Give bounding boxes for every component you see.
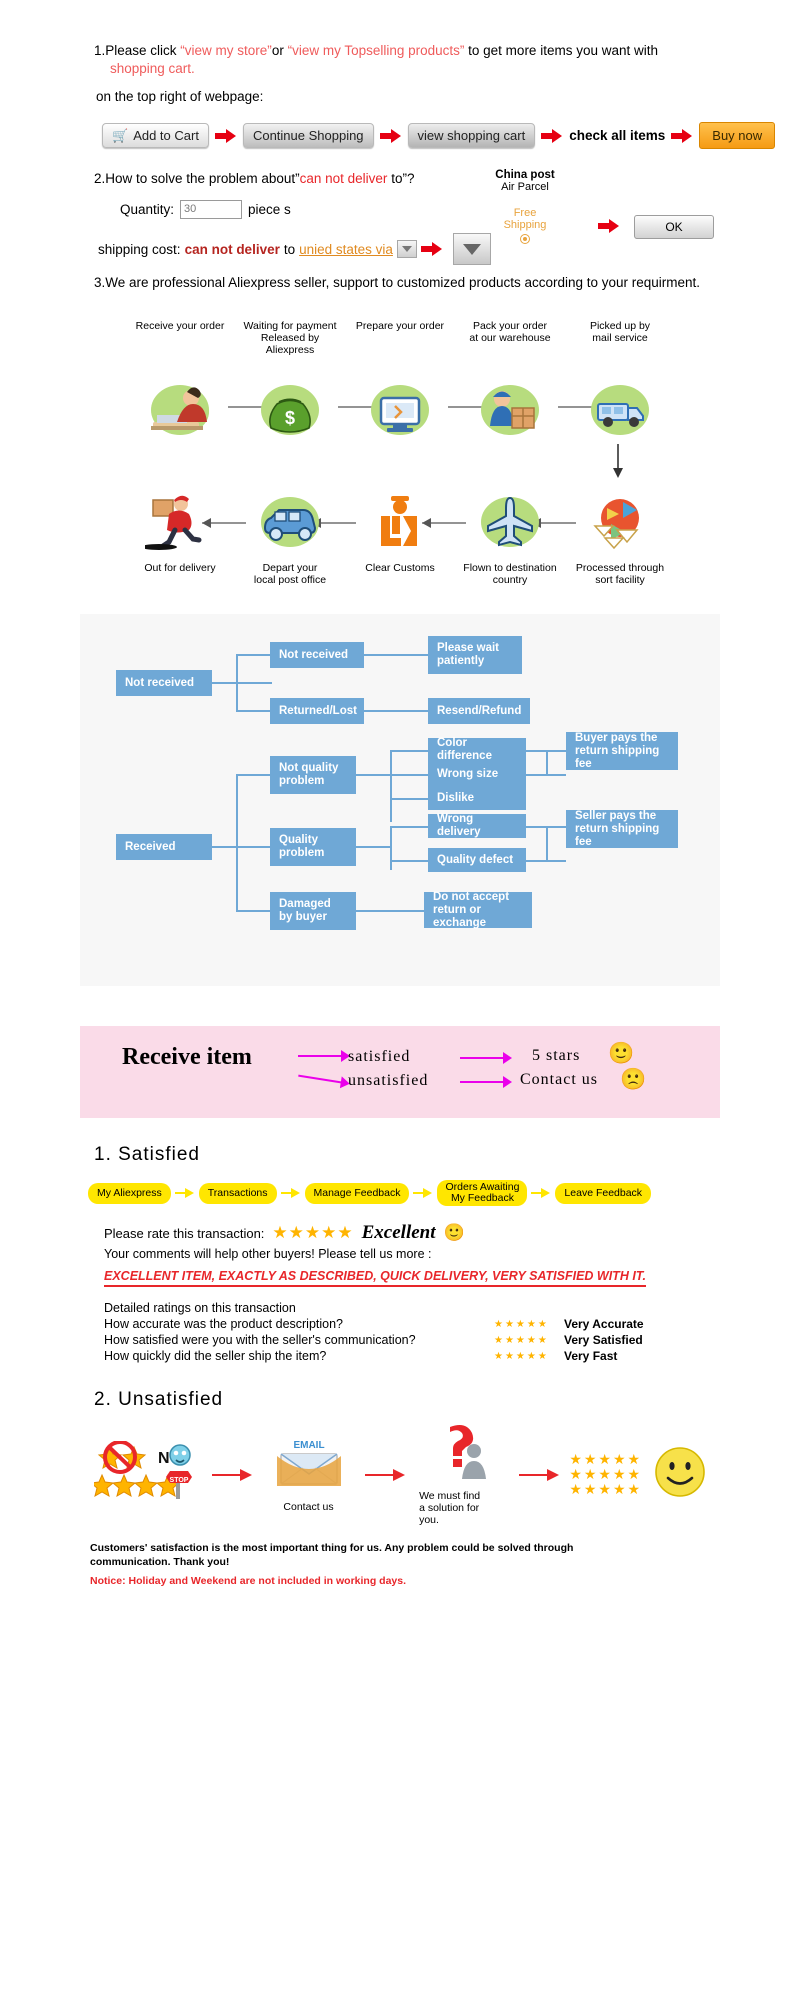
mail-sorting-icon: [570, 482, 670, 562]
receive-item-title: Receive item: [122, 1044, 252, 1071]
add-to-cart-button[interactable]: 🛒 Add to Cart: [102, 123, 209, 148]
cart-icon: 🛒: [112, 129, 128, 142]
svg-text:EMAIL: EMAIL: [293, 1440, 324, 1451]
section2-title-b: to”?: [387, 171, 414, 186]
tree-node-color-difference[interactable]: Color difference: [428, 738, 526, 762]
buy-now-button[interactable]: Buy now: [699, 122, 775, 149]
no-rating-icon: N STOP: [94, 1441, 212, 1503]
yellow-arrow-icon: [175, 1188, 195, 1198]
add-to-cart-label: Add to Cart: [133, 128, 199, 143]
flow-caption: Clear Customs: [350, 562, 450, 574]
red-arrow-icon: [541, 129, 563, 143]
flow-step: Prepare your order: [350, 320, 450, 332]
customs-officer-icon: [350, 482, 450, 562]
rating-value: Very Satisfied: [564, 1333, 643, 1347]
quantity-row: Quantity: 30 piece s: [80, 200, 720, 219]
satisfied-heading: 1. Satisfied: [94, 1144, 720, 1166]
email-envelope-icon: EMAIL: [263, 1436, 355, 1492]
section1-text-before: Please click: [105, 43, 180, 58]
unsatisfied-section: 2. Unsatisfied N: [80, 1389, 720, 1587]
returns-decision-tree: Not received Not received Returned/Lost …: [80, 614, 720, 986]
shipping-flow-bottom-icons: [80, 476, 720, 562]
smiley-cell: [653, 1446, 706, 1503]
satisfied-section: 1. Satisfied My Aliexpress Transactions …: [80, 1144, 720, 1363]
feedback-chain: My Aliexpress Transactions Manage Feedba…: [88, 1180, 720, 1206]
flow-caption: Processed through sort facility: [570, 562, 670, 586]
comments-prompt: Your comments will help other buyers! Pl…: [104, 1247, 720, 1261]
excellent-label: Excellent: [362, 1222, 436, 1244]
contact-us-label: Contact us: [520, 1071, 598, 1089]
star-row: ★★★★★: [558, 1482, 653, 1497]
tree-node-quality-defect[interactable]: Quality defect: [428, 848, 526, 872]
five-stars-label: 5 stars: [532, 1047, 580, 1065]
tree-node-do-not-accept[interactable]: Do not accept return or exchange: [424, 892, 532, 928]
tree-node-seller-pays[interactable]: Seller pays the return shipping fee: [566, 810, 678, 848]
carrier-name: China post: [470, 169, 580, 181]
unsatisfied-label: unsatisfied: [348, 1072, 428, 1090]
chevron-down-icon: [463, 244, 481, 255]
notice-text: Notice: Holiday and Weekend are not incl…: [90, 1575, 720, 1587]
solution-cell: We must find a solution for you.: [405, 1423, 519, 1526]
section1-mid: or: [272, 43, 288, 58]
shipping-cost-row: shipping cost:can not deliver to unied s…: [80, 233, 720, 265]
ok-button[interactable]: OK: [634, 215, 714, 239]
tree-node-please-wait[interactable]: Please wait patiently: [428, 636, 522, 674]
footer-line2: communication. Thank you!: [90, 1556, 720, 1569]
satisfied-label: satisfied: [348, 1048, 410, 1066]
yellow-arrow-icon: [281, 1188, 301, 1198]
flow-caption: Receive your order: [130, 320, 230, 332]
flow-caption: Depart your local post office: [240, 562, 340, 586]
country-select-link[interactable]: unied states via: [299, 242, 393, 257]
transactions-button[interactable]: Transactions: [199, 1183, 277, 1204]
view-shopping-cart-button[interactable]: view shopping cart: [408, 123, 536, 148]
red-arrow-icon: [421, 242, 443, 256]
worker-box-icon: [460, 370, 560, 450]
section1-line3: on the top right of webpage:: [80, 88, 720, 106]
section-2: 2.How to solve the problem about”can not…: [80, 171, 720, 271]
section1-number: 1.: [94, 43, 105, 58]
section-3: 3.We are professional Aliexpress seller,…: [80, 275, 720, 290]
free-shipping-radio[interactable]: [520, 234, 530, 244]
red-arrow-icon: [519, 1468, 559, 1482]
monitor-box-icon: [350, 370, 450, 450]
receive-item-band: Receive item satisfied unsatisfied 5 sta…: [80, 1026, 720, 1118]
contact-us-cell: EMAIL Contact us: [252, 1436, 366, 1513]
button-flow-row: 🛒 Add to Cart Continue Shopping view sho…: [80, 122, 720, 149]
tree-node-wrong-delivery[interactable]: Wrong delivery: [428, 814, 526, 838]
happy-face-icon: 🙂: [444, 1223, 465, 1243]
rating-question: How quickly did the seller ship the item…: [104, 1349, 494, 1363]
blue-van-icon: [240, 482, 340, 562]
rating-question: How accurate was the product description…: [104, 1317, 494, 1331]
rate-prompt: Please rate this transaction:: [104, 1226, 264, 1241]
flow-caption: Pack your order at our warehouse: [460, 320, 560, 344]
quantity-label: Quantity:: [120, 202, 174, 217]
yellow-arrow-icon: [413, 1188, 433, 1198]
red-arrow-icon: [212, 1468, 252, 1482]
view-shopping-cart-label: view shopping cart: [418, 128, 526, 143]
flow-step: Pack your order at our warehouse: [460, 320, 560, 344]
continue-shopping-button[interactable]: Continue Shopping: [243, 123, 374, 148]
unsatisfied-heading: 2. Unsatisfied: [94, 1389, 720, 1411]
rating-stars: ★★★★★: [494, 1335, 564, 1346]
orders-awaiting-feedback-button[interactable]: Orders Awaiting My Feedback: [437, 1180, 527, 1206]
magenta-arrow-icon: [460, 1052, 516, 1064]
country-dropdown[interactable]: [397, 240, 417, 258]
chevron-down-icon: [402, 246, 412, 252]
rating-stars[interactable]: ★★★★★: [272, 1223, 353, 1243]
flow-caption: Prepare your order: [350, 320, 450, 332]
star-row: ★★★★★: [558, 1452, 653, 1467]
tree-node-quality-problem[interactable]: Quality problem: [270, 828, 356, 866]
rating-value: Very Accurate: [564, 1317, 644, 1331]
leave-feedback-button[interactable]: Leave Feedback: [555, 1183, 651, 1204]
rating-stars: ★★★★★: [494, 1319, 564, 1330]
flow-step: Picked up by mail service: [570, 320, 670, 344]
section2-title: 2.How to solve the problem about”can not…: [80, 171, 720, 186]
tree-node-wrong-size[interactable]: Wrong size: [428, 762, 526, 786]
magenta-arrow-icon: [298, 1050, 354, 1062]
question-person-icon: [420, 1423, 504, 1481]
tree-node-not-quality-problem[interactable]: Not quality problem: [270, 756, 356, 794]
shipping-flow-diagram: Receive your order Waiting for payment R…: [80, 320, 720, 586]
carrier-block: China post Air Parcel Free Shipping: [470, 169, 580, 244]
flow-caption: Picked up by mail service: [570, 320, 670, 344]
magenta-arrow-icon: [460, 1076, 516, 1088]
carrier-service: Air Parcel: [470, 181, 580, 193]
shipping-flow-top-captions: Receive your order Waiting for payment R…: [80, 320, 720, 356]
section-1: 1.Please click “view my store”or “view m…: [80, 0, 720, 149]
contact-us-caption: Contact us: [252, 1501, 366, 1513]
cannot-deliver-text: can not deliver: [185, 242, 280, 257]
piece-label: piece s: [248, 202, 291, 217]
rating-row: How accurate was the product description…: [104, 1317, 720, 1331]
tree-node-not-received[interactable]: Not received: [270, 642, 364, 668]
buy-now-label: Buy now: [712, 128, 762, 143]
continue-shopping-label: Continue Shopping: [253, 128, 364, 143]
rating-question: How satisfied were you with the seller's…: [104, 1333, 494, 1347]
section1-text-after: to get more items you want with: [464, 43, 658, 58]
check-all-items-label: check all items: [569, 128, 665, 143]
section3-text: We are professional Aliexpress seller, s…: [105, 275, 700, 290]
unsatisfied-flow: N STOP EMAIL Contact us: [94, 1423, 706, 1526]
quantity-input[interactable]: 30: [180, 200, 242, 219]
stars-grid-cell: ★★★★★ ★★★★★ ★★★★★: [558, 1452, 653, 1497]
rating-value: Very Fast: [564, 1349, 617, 1363]
red-arrow-icon: [380, 129, 402, 143]
my-aliexpress-button[interactable]: My Aliexpress: [88, 1183, 171, 1204]
flow-caption: Out for delivery: [130, 562, 230, 574]
section2-title-a: How to solve the problem about”: [105, 171, 299, 186]
detailed-ratings-title: Detailed ratings on this transaction: [104, 1301, 720, 1315]
rating-row: How quickly did the seller ship the item…: [104, 1349, 720, 1363]
free-line1: Free: [470, 207, 580, 219]
magenta-arrow-icon: [297, 1070, 354, 1091]
free-line2: Shipping: [470, 219, 580, 231]
tree-node-damaged-by-buyer[interactable]: Damaged by buyer: [270, 892, 356, 930]
red-arrow-icon: [215, 129, 237, 143]
tree-node-returned-lost[interactable]: Returned/Lost: [270, 698, 364, 724]
comment-text: EXCELLENT ITEM, EXACTLY AS DESCRIBED, QU…: [104, 1269, 646, 1287]
shipping-flow-top-icons: $: [80, 364, 720, 450]
svg-text:STOP: STOP: [170, 1477, 189, 1484]
section1-shopping-cart-text: shopping cart.: [80, 60, 720, 78]
mail-truck-icon: [570, 370, 670, 450]
sad-face-icon: 🙁: [620, 1068, 646, 1092]
tree-root-not-received[interactable]: Not received: [116, 670, 212, 696]
view-my-store-link[interactable]: “view my store”: [180, 43, 272, 58]
footer-line1: Customers' satisfaction is the most impo…: [90, 1542, 720, 1555]
view-topselling-link[interactable]: “view my Topselling products”: [288, 43, 465, 58]
section3-number: 3.: [94, 275, 105, 290]
tree-node-dislike[interactable]: Dislike: [428, 786, 526, 810]
shipping-to-text: to: [284, 242, 295, 257]
rating-row: How satisfied were you with the seller's…: [104, 1333, 720, 1347]
money-bag-icon: $: [240, 370, 340, 450]
courier-running-icon: [130, 482, 230, 562]
rate-transaction-row: Please rate this transaction: ★★★★★ Exce…: [104, 1222, 720, 1244]
solution-caption: We must find a solution for you.: [405, 1490, 519, 1526]
tree-root-received[interactable]: Received: [116, 834, 212, 860]
svg-text:N: N: [158, 1450, 170, 1467]
person-computer-icon: [130, 370, 230, 450]
tree-node-buyer-pays[interactable]: Buyer pays the return shipping fee: [566, 732, 678, 770]
flow-step: Receive your order: [130, 320, 230, 332]
flow-caption: Waiting for payment Released by Aliexpre…: [240, 320, 340, 356]
shipping-cost-label: shipping cost:: [98, 242, 181, 257]
manage-feedback-button[interactable]: Manage Feedback: [305, 1183, 410, 1204]
red-arrow-icon: [598, 219, 620, 233]
happy-face-icon: 🙂: [608, 1042, 634, 1066]
free-shipping-label: Free Shipping: [470, 207, 580, 231]
section2-number: 2.: [94, 171, 105, 186]
flow-caption: Flown to destination country: [460, 562, 560, 586]
flow-step: Waiting for payment Released by Aliexpre…: [240, 320, 340, 356]
no-stars-cell: N STOP: [94, 1441, 212, 1508]
section1-line1: 1.Please click “view my store”or “view m…: [80, 42, 720, 60]
red-arrow-icon: [671, 129, 693, 143]
section2-title-red: can not deliver: [300, 171, 388, 186]
rating-stars: ★★★★★: [494, 1351, 564, 1362]
yellow-arrow-icon: [531, 1188, 551, 1198]
red-arrow-icon: [365, 1468, 405, 1482]
tree-node-resend-refund[interactable]: Resend/Refund: [428, 698, 530, 724]
airplane-icon: [460, 482, 560, 562]
smiley-face-icon: [654, 1446, 706, 1498]
svg-text:$: $: [285, 408, 295, 428]
star-row: ★★★★★: [558, 1467, 653, 1482]
